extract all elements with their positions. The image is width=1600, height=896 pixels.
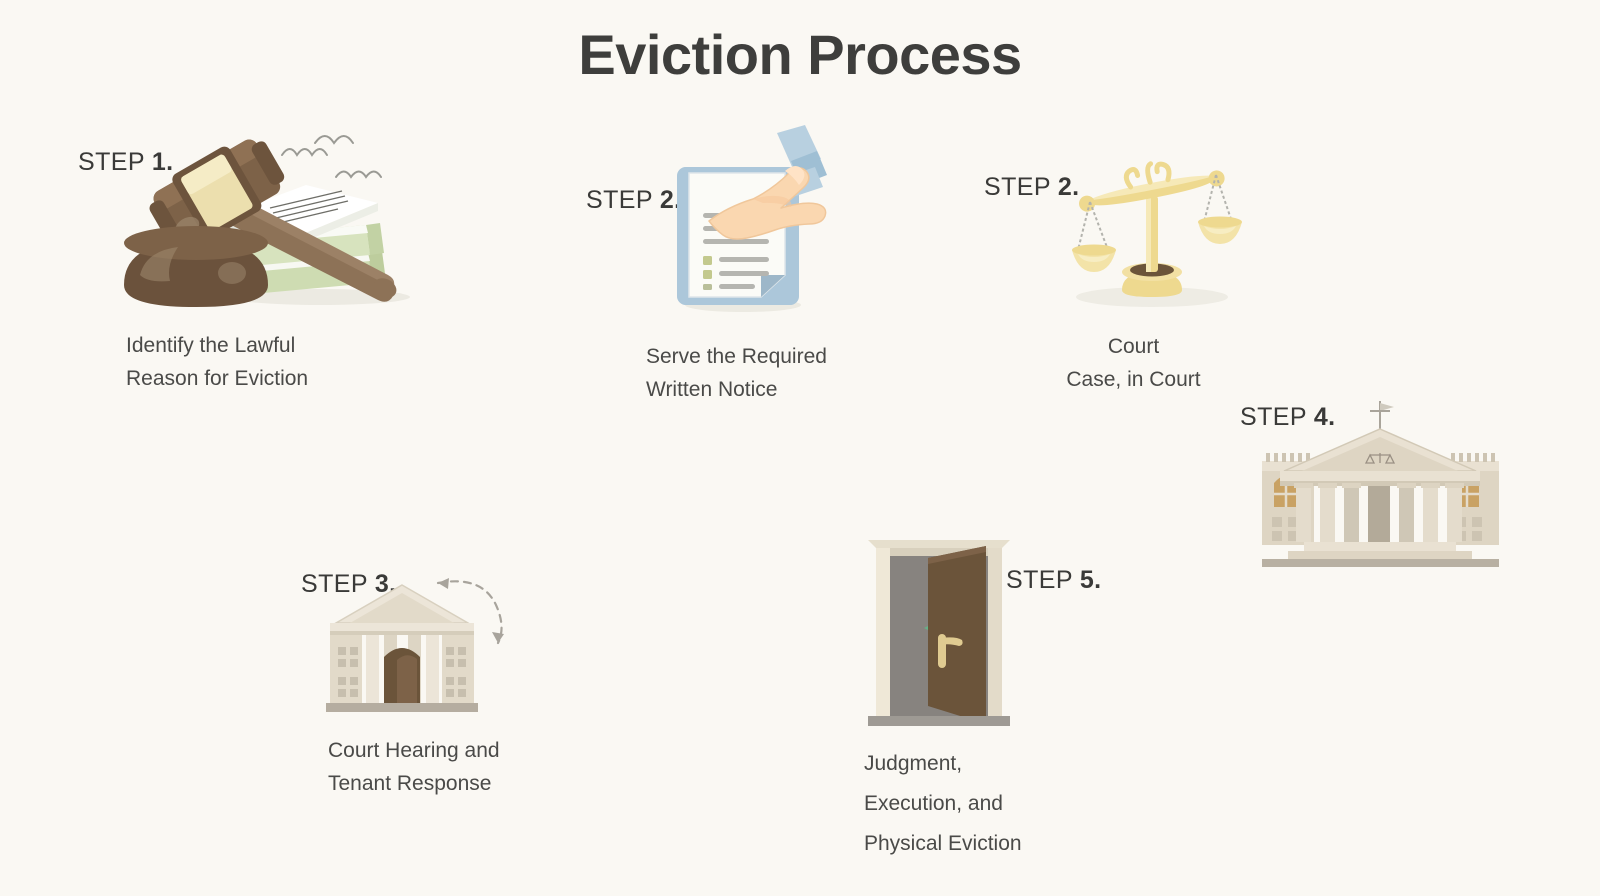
gavel-books-icon [110, 125, 410, 315]
step-caption-2-court-line-1: Court [1056, 331, 1211, 364]
step-caption-5-line-2: Execution, and [864, 784, 1022, 824]
courthouse-icon [1258, 395, 1503, 570]
step-caption-1-line-2: Reason for Eviction [126, 363, 308, 396]
step-caption-3: Court Hearing and Tenant Response [328, 735, 500, 800]
open-door-icon [862, 538, 1022, 728]
infographic-canvas: Eviction Process STEP 1. [0, 0, 1600, 896]
courthouse-arrow-icon [322, 565, 517, 725]
step-caption-2-court-line-2: Case, in Court [1056, 364, 1211, 397]
scales-of-justice-icon [1070, 150, 1235, 315]
step-caption-1: Identify the Lawful Reason for Eviction [126, 330, 308, 395]
step-caption-1-line-1: Identify the Lawful [126, 330, 308, 363]
step-caption-5-line-3: Physical Eviction [864, 824, 1022, 864]
step-label-2-court: STEP 2. [984, 173, 1079, 202]
step-label-2-court-prefix: STEP [984, 173, 1050, 201]
page-title: Eviction Process [0, 22, 1600, 87]
step-caption-2-court: Court Case, in Court [1056, 331, 1211, 396]
step-caption-3-line-1: Court Hearing and [328, 735, 500, 768]
step-caption-5-line-1: Judgment, [864, 744, 1022, 784]
document-hand-icon [665, 125, 840, 320]
step-caption-5: Judgment, Execution, and Physical Evicti… [864, 744, 1022, 864]
step-caption-2-line-1: Serve the Required [646, 341, 827, 374]
step-caption-2-line-2: Written Notice [646, 374, 827, 407]
step-label-5-number: 5. [1080, 566, 1102, 594]
step-label-2-prefix: STEP [586, 186, 652, 214]
step-caption-2: Serve the Required Written Notice [646, 341, 827, 406]
step-caption-3-line-2: Tenant Response [328, 768, 500, 801]
